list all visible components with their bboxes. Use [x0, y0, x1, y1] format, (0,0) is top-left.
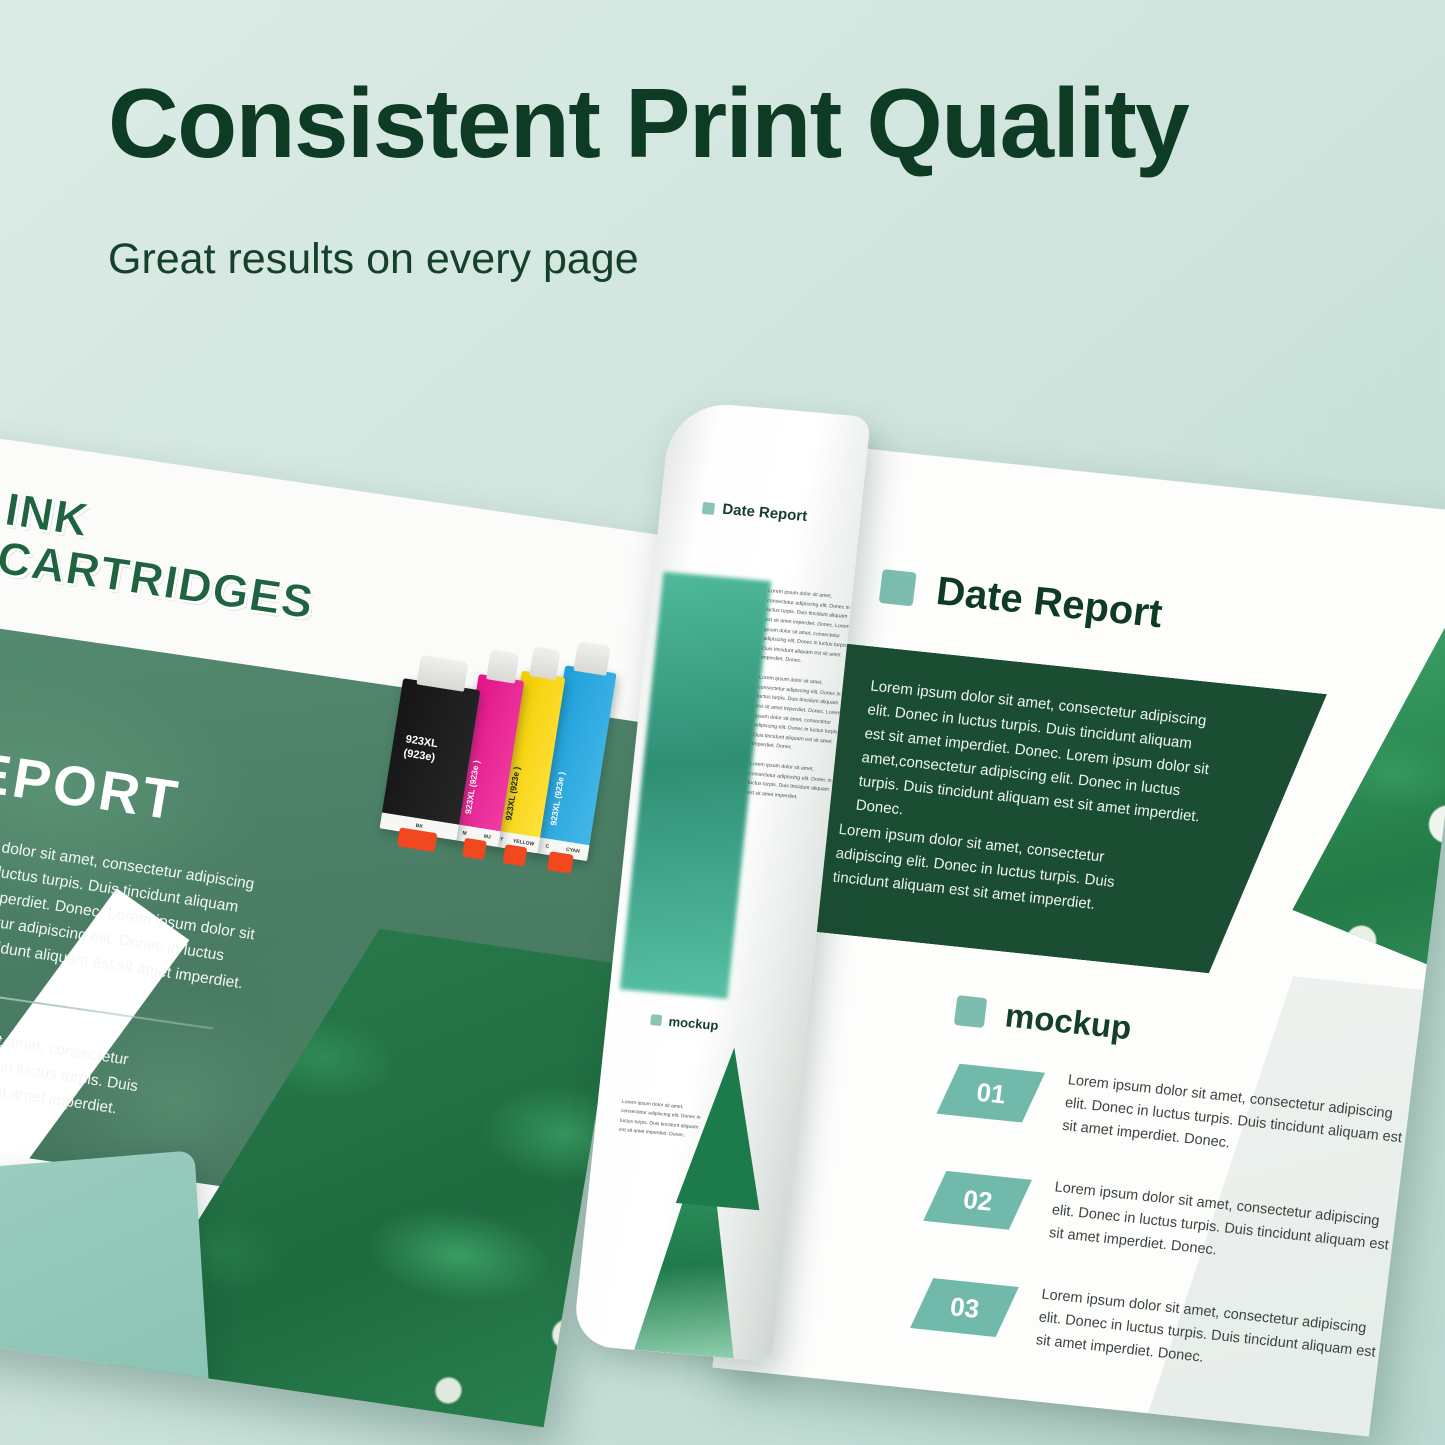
square-bullet-icon: [954, 995, 987, 1028]
cartridge-magenta-foot-left: M: [462, 830, 467, 837]
right-brochure-foliage-photo: [1282, 608, 1445, 1026]
curled-page-paragraph-3: Lorem ipsum dolor sit amet, consectetur …: [746, 760, 838, 806]
curled-page-paragraph-1: Lorem ipsum dolor sit amet, consectetur …: [761, 587, 857, 671]
cartridge-cap-icon: [486, 650, 519, 684]
right-brochure-mockup-header: mockup: [953, 991, 1133, 1047]
curled-page-mockup-header: mockup: [650, 1012, 719, 1033]
list-item-number: 03: [948, 1291, 981, 1325]
cartridge-tab-icon: [547, 851, 575, 874]
list-item-number: 01: [974, 1076, 1007, 1110]
right-brochure-header: Date Report: [878, 563, 1165, 637]
list-item-badge: 02: [923, 1171, 1032, 1230]
right-brochure-title: Date Report: [934, 569, 1165, 637]
cartridge-cap-icon: [529, 646, 561, 680]
square-bullet-icon: [879, 569, 917, 606]
curled-page-mockup-title: mockup: [668, 1014, 719, 1033]
cartridge-black-foot-left: BK: [415, 823, 423, 830]
ink-cartridge-cluster: 923XL(923e) BK 923XL (923e ) M MJ 923XL …: [366, 589, 637, 863]
page-title: Consistent Print Quality: [108, 72, 1378, 175]
square-bullet-icon: [702, 501, 715, 514]
product-scene: Consistent Print Quality Great results o…: [0, 0, 1445, 1445]
left-brochure-teal-card: [0, 1150, 215, 1427]
right-brochure: Date Report Lorem ipsum dolor sit amet, …: [573, 400, 1445, 1434]
cartridge-magenta-foot-right: MJ: [483, 834, 491, 841]
cartridge-cap-icon: [574, 641, 611, 676]
cartridge-tab-icon: [503, 844, 527, 866]
cartridge-tab-icon: [462, 838, 487, 860]
curled-page-mockup-text: Lorem ipsum dolor sit amet, consectetur …: [619, 1098, 707, 1142]
cartridge-cyan-foot-left: C: [545, 843, 550, 849]
list-item-badge: 01: [936, 1064, 1045, 1123]
right-brochure-numbered-list: 01 Lorem ipsum dolor sit amet, consectet…: [912, 1057, 1419, 1428]
square-bullet-icon: [650, 1014, 662, 1026]
right-brochure-green-block: Lorem ipsum dolor sit amet, consectetur …: [774, 640, 1327, 982]
hero-header: Consistent Print Quality Great results o…: [108, 72, 1378, 284]
page-subtitle: Great results on every page: [108, 235, 1378, 284]
curled-page-header: Date Report: [702, 499, 808, 525]
cartridge-black-code: 923XL(923e): [402, 733, 438, 765]
curled-page-title: Date Report: [722, 501, 809, 525]
list-item-badge: 03: [910, 1278, 1019, 1337]
cartridge-yellow-foot-left: Y: [500, 836, 504, 842]
cartridge-cyan-code: 923XL (923e ): [548, 771, 566, 826]
curled-page-paragraph-2: Lorem ipsum dolor sit amet, consectetur …: [751, 673, 847, 757]
right-brochure-mockup-title: mockup: [1003, 996, 1133, 1047]
cartridge-cap-icon: [417, 655, 469, 692]
list-item-number: 02: [961, 1183, 994, 1217]
